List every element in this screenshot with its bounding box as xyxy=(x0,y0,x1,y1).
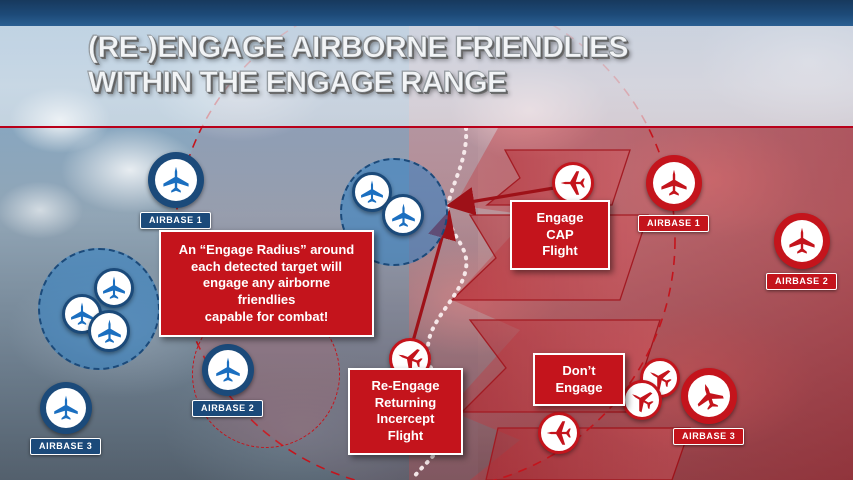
callout-line: Re-Engage xyxy=(360,378,451,395)
enemy-cap-flight[interactable] xyxy=(552,162,594,204)
jet-icon xyxy=(781,220,823,262)
enemy-low-flight[interactable] xyxy=(538,412,580,454)
friendly-airbase-1[interactable]: AIRBASE 1 xyxy=(140,152,211,229)
callout-line: Engage xyxy=(545,380,613,397)
jet-icon xyxy=(382,194,424,236)
callout-line: An “Engage Radius” around xyxy=(173,242,360,259)
callout-line: Don’t xyxy=(545,363,613,380)
enemy-airbase-3[interactable]: AIRBASE 3 xyxy=(673,368,744,445)
jet-icon xyxy=(46,388,86,428)
callout-line: each detected target will xyxy=(173,259,360,276)
callout-engage-cap[interactable]: Engage CAP Flight xyxy=(510,200,610,270)
callout-line: Flight xyxy=(522,243,598,260)
friendly-airbase-3[interactable]: AIRBASE 3 xyxy=(30,382,101,455)
airbase-label: AIRBASE 3 xyxy=(30,438,101,455)
airbase-disc xyxy=(681,368,737,424)
friendly-airbase-2[interactable]: AIRBASE 2 xyxy=(192,344,263,417)
slide-canvas: (RE-)ENGAGE AIRBORNE FRIENDLIES WITHIN T… xyxy=(0,0,853,480)
callout-line: Returning xyxy=(360,395,451,412)
callout-line: Incercept Flight xyxy=(360,411,451,444)
callout-dont-engage[interactable]: Don’t Engage xyxy=(533,353,625,406)
callout-line: Engage CAP xyxy=(522,210,598,243)
airbase-label: AIRBASE 1 xyxy=(140,212,211,229)
page-title: (RE-)ENGAGE AIRBORNE FRIENDLIES WITHIN T… xyxy=(88,30,788,101)
callout-engage-radius[interactable]: An “Engage Radius” around each detected … xyxy=(159,230,374,337)
jet-icon xyxy=(653,162,695,204)
top-accent-strip xyxy=(0,0,853,26)
callout-reengage[interactable]: Re-Engage Returning Incercept Flight xyxy=(348,368,463,455)
jet-icon xyxy=(88,310,130,352)
title-line-1: (RE-)ENGAGE AIRBORNE FRIENDLIES xyxy=(88,31,628,64)
jet-icon xyxy=(208,350,248,390)
airbase-disc xyxy=(40,382,92,434)
airbase-disc xyxy=(202,344,254,396)
callout-line: engage any airborne friendlies xyxy=(173,275,360,308)
enemy-airbase-2[interactable]: AIRBASE 2 xyxy=(766,213,837,290)
airbase-label: AIRBASE 2 xyxy=(192,400,263,417)
jet-icon xyxy=(155,159,197,201)
airbase-disc xyxy=(646,155,702,211)
airbase-label: AIRBASE 1 xyxy=(638,215,709,232)
jet-icon xyxy=(94,268,134,308)
enemy-airbase-1[interactable]: AIRBASE 1 xyxy=(638,155,709,232)
airbase-disc xyxy=(148,152,204,208)
title-line-2: WITHIN THE ENGAGE RANGE xyxy=(88,65,788,100)
jet-icon xyxy=(688,375,730,417)
airbase-label: AIRBASE 3 xyxy=(673,428,744,445)
jet-icon xyxy=(622,380,662,420)
airbase-label: AIRBASE 2 xyxy=(766,273,837,290)
callout-line: capable for combat! xyxy=(173,309,360,326)
airbase-disc xyxy=(774,213,830,269)
